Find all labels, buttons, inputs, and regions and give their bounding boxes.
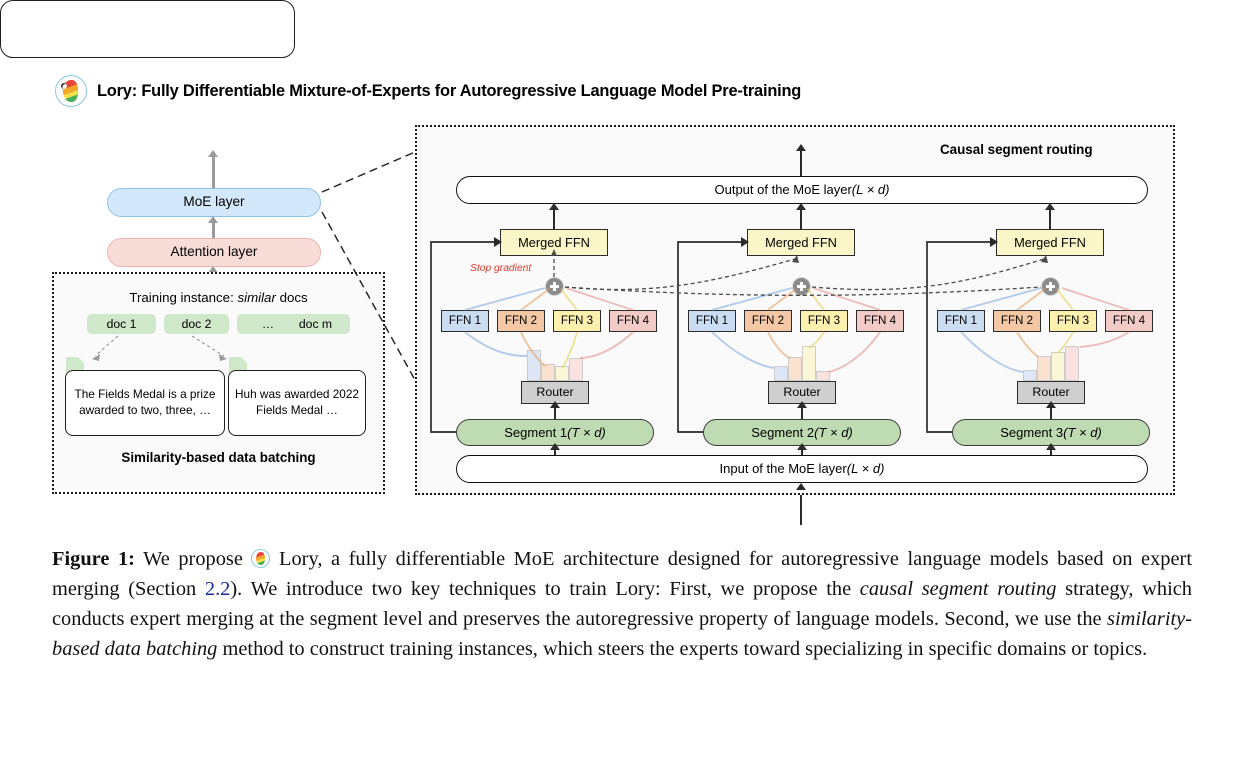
figure-caption: Figure 1: We propose Lory, a fully diffe… <box>52 545 1192 665</box>
panel-input-feed <box>800 495 802 525</box>
panel-output-connector <box>800 147 802 176</box>
expert-label: FFN 2 <box>1001 314 1033 328</box>
expert-label: FFN 4 <box>617 314 649 328</box>
plus-circle-icon-1 <box>545 277 564 296</box>
expert-label: FFN 3 <box>561 314 593 328</box>
segment-3-to-router-arrowhead <box>1046 401 1056 408</box>
expert-ffn-3-1: FFN 1 <box>937 310 985 332</box>
expert-ffn-2-4: FFN 4 <box>856 310 904 332</box>
segment-dims: (T × d) <box>567 425 606 440</box>
zoom-leader-top <box>322 152 415 192</box>
expert-ffn-2-1: FFN 1 <box>688 310 736 332</box>
moe-input-bar: Input of the MoE layer (L × d) <box>456 455 1148 483</box>
segment-label: Segment 3 <box>1000 425 1063 440</box>
router-weight-bar-3-4 <box>1065 346 1079 381</box>
doc-chip-label: … <box>262 317 274 331</box>
figure-label: Figure 1: <box>52 548 135 570</box>
doc-text-box-1: The Fields Medal is a prize awarded to t… <box>65 370 225 436</box>
caption-text-1: We propose <box>135 548 252 570</box>
segment-1-to-router-arrowhead <box>550 401 560 408</box>
segment-2-to-router-arrowhead <box>797 401 807 408</box>
router-label: Router <box>1032 385 1069 400</box>
moe-input-dims: (L × d) <box>847 461 885 476</box>
expert-ffn-1-1: FFN 1 <box>441 310 489 332</box>
expert-ffn-1-2: FFN 2 <box>497 310 545 332</box>
doc-chip-label: doc 2 <box>182 317 212 331</box>
expert-label: FFN 1 <box>449 314 481 328</box>
section-link[interactable]: 2.2 <box>205 578 231 600</box>
expert-label: FFN 2 <box>505 314 537 328</box>
panel-output-arrowhead <box>796 144 806 151</box>
moe-output-bar: Output of the MoE layer (L × d) <box>456 176 1148 204</box>
segment-1: Segment 1 (T × d) <box>456 419 654 446</box>
training-instance-prefix: Training instance: <box>129 290 237 305</box>
caption-text-5: method to construct training instances, … <box>217 638 1147 660</box>
expert-label: FFN 1 <box>696 314 728 328</box>
expert-label: FFN 3 <box>1057 314 1089 328</box>
expert-label: FFN 4 <box>1113 314 1145 328</box>
expert-label: FFN 3 <box>808 314 840 328</box>
moe-output-arrowhead <box>208 150 218 157</box>
expert-label: FFN 4 <box>864 314 896 328</box>
attention-layer-label: Attention layer <box>171 244 258 260</box>
router-label: Router <box>536 385 573 400</box>
merged-ffn-3: Merged FFN <box>996 229 1104 256</box>
training-instance-label: Training instance: similar docs <box>71 290 366 305</box>
doc-chip-2[interactable]: doc 2 <box>164 314 229 334</box>
moe-output-dims: (L × d) <box>852 182 890 197</box>
merged-ffn-label: Merged FFN <box>765 235 837 250</box>
stop-gradient-label-1: Stop gradient <box>470 263 531 274</box>
expert-ffn-3-4: FFN 4 <box>1105 310 1153 332</box>
expert-ffn-3-3: FFN 3 <box>1049 310 1097 332</box>
doc-chip-label: doc m <box>299 317 332 331</box>
router-label: Router <box>783 385 820 400</box>
training-instance-emph: similar <box>237 290 275 305</box>
router-weight-bar-2-1 <box>774 366 788 381</box>
parrot-icon <box>251 549 270 568</box>
training-instance-box <box>0 0 295 58</box>
merged-ffn-label: Merged FFN <box>1014 235 1086 250</box>
router-weight-bar-1-4 <box>569 358 583 381</box>
expert-ffn-2-3: FFN 3 <box>800 310 848 332</box>
doc-chip-label: doc 1 <box>107 317 137 331</box>
moe-output-label: Output of the MoE layer <box>715 182 852 197</box>
segment-3: Segment 3 (T × d) <box>952 419 1150 446</box>
router-weight-bar-3-3 <box>1051 352 1065 381</box>
expert-ffn-2-2: FFN 2 <box>744 310 792 332</box>
input-to-segment-2-arrowhead <box>797 443 807 450</box>
expert-label: FFN 2 <box>752 314 784 328</box>
merged-ffn-label: Merged FFN <box>518 235 590 250</box>
merged-ffn-2: Merged FFN <box>747 229 855 256</box>
merged-ffn-2-arrowhead <box>796 203 806 210</box>
input-to-segment-1-arrowhead <box>550 443 560 450</box>
expert-ffn-1-4: FFN 4 <box>609 310 657 332</box>
attention-to-moe-arrowhead <box>208 216 218 223</box>
router-weight-bar-3-1 <box>1023 370 1037 381</box>
doc-text: The Fields Medal is a prize awarded to t… <box>70 387 220 419</box>
segment-dims: (T × d) <box>1063 425 1102 440</box>
expert-label: FFN 1 <box>945 314 977 328</box>
attention-layer-node: Attention layer <box>107 238 321 267</box>
segment-2: Segment 2 (T × d) <box>703 419 901 446</box>
router-weight-bar-1-1 <box>527 350 541 381</box>
parrot-icon <box>55 75 87 107</box>
router-weight-bar-3-2 <box>1037 356 1051 381</box>
merged-ffn-1: Merged FFN <box>500 229 608 256</box>
doc-chip-m[interactable]: doc m <box>281 314 350 334</box>
expert-ffn-3-2: FFN 2 <box>993 310 1041 332</box>
batching-panel-caption: Similarity-based data batching <box>52 450 385 465</box>
input-to-segment-3-arrowhead <box>1046 443 1056 450</box>
moe-output-connector <box>212 152 215 188</box>
page-title: Lory: Fully Differentiable Mixture-of-Ex… <box>97 82 801 101</box>
caption-emph-1: causal segment routing <box>860 578 1057 600</box>
training-instance-suffix: docs <box>276 290 308 305</box>
panel-input-feed-arrowhead <box>796 483 806 490</box>
merged-ffn-1-arrowhead <box>549 203 559 210</box>
router-weight-bar-2-3 <box>802 346 816 381</box>
plus-circle-icon-2 <box>792 277 811 296</box>
moe-layer-label: MoE layer <box>183 194 244 210</box>
segment-label: Segment 1 <box>504 425 567 440</box>
plus-circle-icon-3 <box>1041 277 1060 296</box>
moe-layer-node: MoE layer <box>107 188 321 217</box>
router-weight-bar-2-2 <box>788 357 802 381</box>
router-weight-bar-1-2 <box>541 364 555 381</box>
router-weight-bar-2-4 <box>816 371 830 381</box>
paper-title-row: Lory: Fully Differentiable Mixture-of-Ex… <box>55 75 801 107</box>
routing-panel-title: Causal segment routing <box>940 142 1093 157</box>
moe-input-label: Input of the MoE layer <box>720 461 847 476</box>
router-weight-bar-1-3 <box>555 366 569 381</box>
doc-text-box-2: Huh was awarded 2022 Fields Medal … <box>228 370 366 436</box>
merged-ffn-3-arrowhead <box>1045 203 1055 210</box>
doc-text: Huh was awarded 2022 Fields Medal … <box>233 387 361 419</box>
doc-chip-1[interactable]: doc 1 <box>87 314 156 334</box>
segment-dims: (T × d) <box>814 425 853 440</box>
caption-text-3: ). We introduce two key techniques to tr… <box>230 578 859 600</box>
segment-label: Segment 2 <box>751 425 814 440</box>
expert-ffn-1-3: FFN 3 <box>553 310 601 332</box>
